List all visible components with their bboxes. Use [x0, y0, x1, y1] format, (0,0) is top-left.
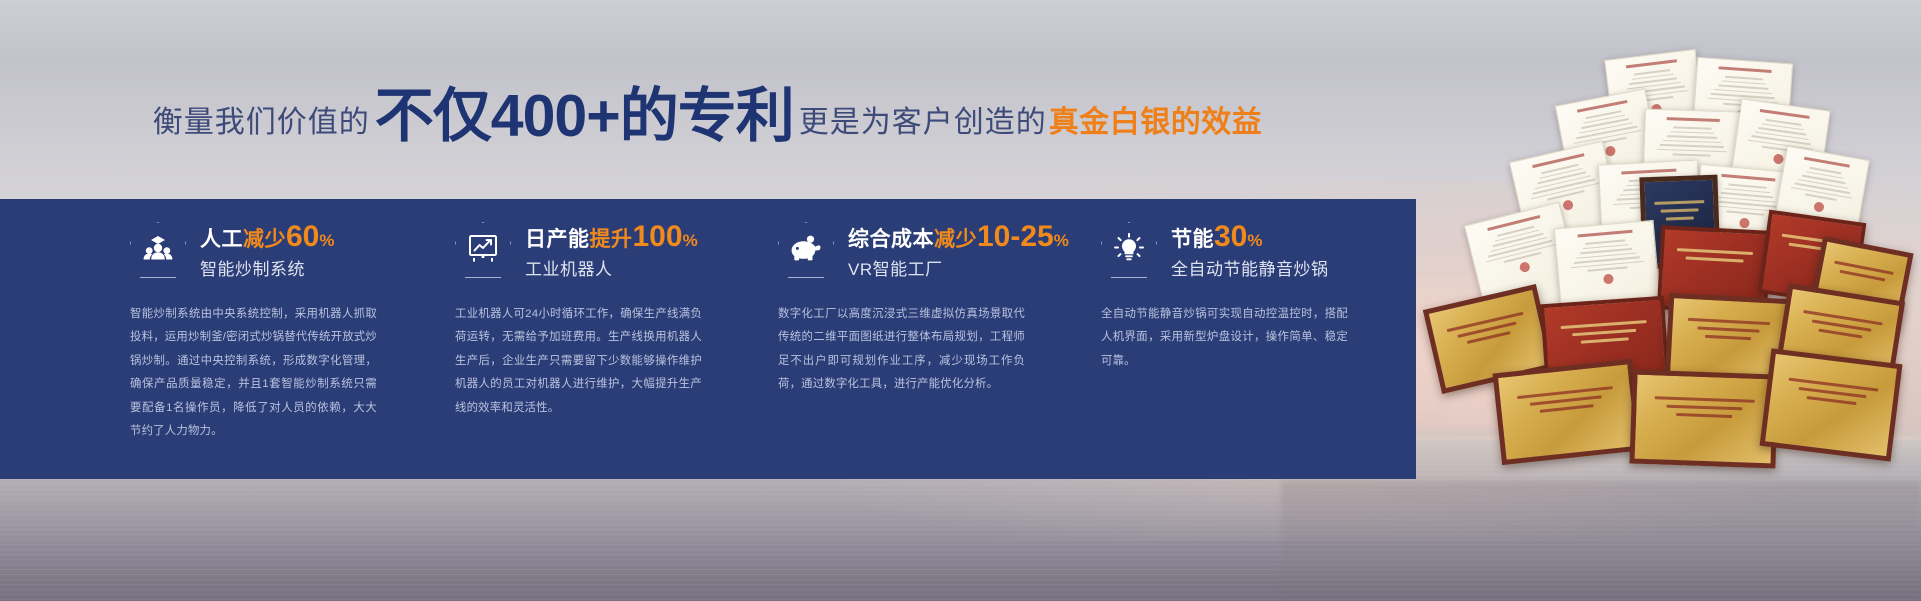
feature-column-1: 人工 减少 60 % 智能炒制系统 智能炒制系统由中央系统控制，采用机器人抓取投… — [130, 199, 413, 479]
headline-middle: 更是为客户创造的 — [799, 108, 1047, 138]
feature-header: 综合成本 减少 10-25 % VR智能工厂 — [778, 219, 1061, 281]
feature-body: 全自动节能静音炒锅可实现自动控温控时，搭配人机界面，采用新型炉盘设计，操作简单、… — [1101, 303, 1348, 373]
feature-title: 日产能 提升 100 % — [525, 222, 698, 252]
feature-column-3: 综合成本 减少 10-25 % VR智能工厂 数字化工厂以高度沉浸式三维虚拟仿真… — [778, 199, 1061, 479]
feature-title-value: 100 — [633, 222, 683, 252]
feature-title-block: 人工 减少 60 % 智能炒制系统 — [200, 222, 335, 278]
feature-title-prefix: 日产能 — [525, 229, 590, 250]
feature-body: 工业机器人可24小时循环工作，确保生产线满负荷运转，无需给予加班费用。生产线换用… — [455, 303, 702, 420]
feature-body: 数字化工厂以高度沉浸式三维虚拟仿真场景取代传统的二维平面图纸进行整体布局规划，工… — [778, 303, 1025, 397]
feature-title-unit: % — [683, 232, 698, 249]
feature-title-block: 节能 30 % 全自动节能静音炒锅 — [1171, 222, 1329, 278]
certificate-item — [1629, 369, 1778, 468]
headline-lead: 衡量我们价值的 — [153, 108, 370, 138]
feature-title-block: 日产能 提升 100 % 工业机器人 — [525, 222, 698, 278]
feature-title-prefix: 节能 — [1171, 229, 1214, 250]
feature-title-unit: % — [1247, 232, 1262, 249]
feature-title: 节能 30 % — [1171, 222, 1329, 252]
feature-title-action: 减少 — [243, 229, 286, 250]
feature-title-prefix: 综合成本 — [848, 229, 934, 250]
piggy-bank-icon — [778, 222, 834, 278]
feature-body: 智能炒制系统由中央系统控制，采用机器人抓取投料，运用炒制釜/密闭式炒锅替代传统开… — [130, 303, 377, 443]
feature-subtitle: 工业机器人 — [525, 261, 698, 278]
feature-column-2: 日产能 提升 100 % 工业机器人 工业机器人可24小时循环工作，确保生产线满… — [455, 199, 738, 479]
feature-title-block: 综合成本 减少 10-25 % VR智能工厂 — [848, 222, 1069, 278]
feature-title: 综合成本 减少 10-25 % — [848, 222, 1069, 252]
certificate-item — [1760, 348, 1903, 461]
feature-title-prefix: 人工 — [200, 229, 243, 250]
page-headline: 衡量我们价值的 不仅400+的专利 更是为客户创造的 真金白银的效益 — [0, 78, 1415, 140]
feature-title-value: 60 — [286, 222, 319, 252]
headline-highlight: 真金白银的效益 — [1049, 108, 1263, 138]
feature-title-value: 30 — [1214, 222, 1247, 252]
feature-subtitle: VR智能工厂 — [848, 261, 1069, 278]
feature-column-4: 节能 30 % 全自动节能静音炒锅 全自动节能静音炒锅可实现自动控温控时，搭配人… — [1101, 199, 1384, 479]
chart-board-icon — [455, 222, 511, 278]
feature-header: 节能 30 % 全自动节能静音炒锅 — [1101, 219, 1384, 281]
feature-subtitle: 全自动节能静音炒锅 — [1171, 261, 1329, 278]
feature-columns: 人工 减少 60 % 智能炒制系统 智能炒制系统由中央系统控制，采用机器人抓取投… — [0, 199, 1416, 479]
feature-subtitle: 智能炒制系统 — [200, 261, 335, 278]
feature-title-unit: % — [319, 232, 334, 249]
feature-title-action: 减少 — [934, 229, 977, 250]
feature-panel: 人工 减少 60 % 智能炒制系统 智能炒制系统由中央系统控制，采用机器人抓取投… — [0, 199, 1416, 479]
feature-title-unit: % — [1054, 232, 1069, 249]
headline-emphasis: 不仅400+的专利 — [375, 89, 794, 143]
lightbulb-icon — [1101, 222, 1157, 278]
feature-header: 日产能 提升 100 % 工业机器人 — [455, 219, 738, 281]
people-group-icon — [130, 222, 186, 278]
feature-title-value: 10-25 — [977, 222, 1054, 252]
feature-header: 人工 减少 60 % 智能炒制系统 — [130, 219, 413, 281]
feature-title-action: 提升 — [590, 229, 633, 250]
feature-title: 人工 减少 60 % — [200, 222, 335, 252]
certificate-item — [1493, 359, 1642, 465]
